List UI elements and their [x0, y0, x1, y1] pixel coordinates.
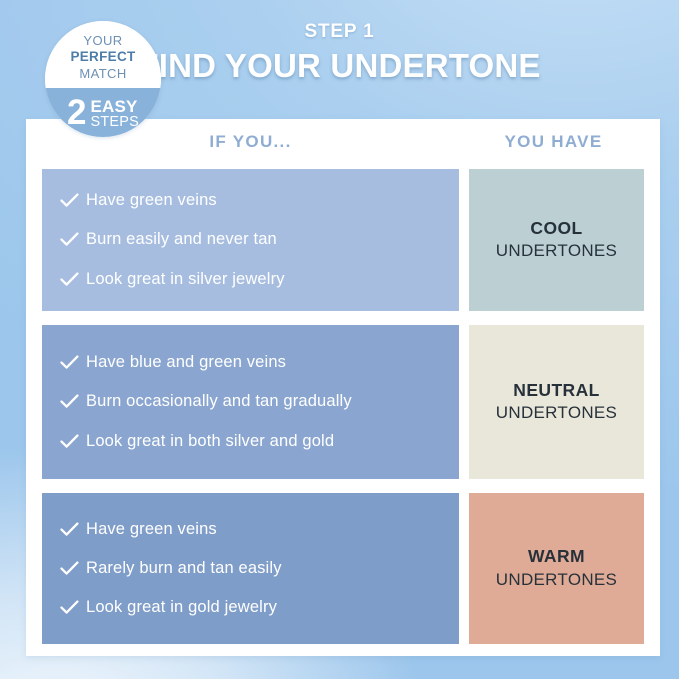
badge-step-count: 2 — [67, 98, 86, 129]
trait-text: Have green veins — [86, 190, 217, 211]
check-icon — [60, 352, 86, 370]
traits-panel: Have blue and green veins Burn occasiona… — [42, 325, 459, 479]
list-item: Rarely burn and tan easily — [60, 558, 443, 579]
undertone-name: NEUTRAL — [513, 379, 599, 403]
undertone-swatch: NEUTRAL UNDERTONES — [469, 325, 644, 479]
your-perfect-match-badge: YOUR PERFECT MATCH 2 EASY STEPS — [45, 21, 161, 137]
check-icon — [60, 558, 86, 576]
badge-bottom-section: 2 EASY STEPS — [45, 88, 161, 137]
check-icon — [60, 269, 86, 287]
undertone-name: WARM — [528, 545, 585, 569]
column-header-you-have: YOU HAVE — [463, 132, 644, 152]
undertone-sublabel: UNDERTONES — [496, 240, 617, 263]
check-icon — [60, 229, 86, 247]
table-row: Have green veins Burn easily and never t… — [42, 169, 644, 311]
badge-top-section: YOUR PERFECT MATCH — [45, 21, 161, 88]
check-icon — [60, 190, 86, 208]
trait-text: Have blue and green veins — [86, 352, 286, 373]
check-icon — [60, 519, 86, 537]
undertone-sublabel: UNDERTONES — [496, 402, 617, 425]
list-item: Look great in silver jewelry — [60, 269, 443, 290]
list-item: Look great in both silver and gold — [60, 431, 443, 452]
list-item: Have green veins — [60, 519, 443, 540]
undertone-infographic: STEP 1 FIND YOUR UNDERTONE YOUR PERFECT … — [0, 0, 679, 679]
traits-panel: Have green veins Rarely burn and tan eas… — [42, 493, 459, 644]
list-item: Burn easily and never tan — [60, 229, 443, 250]
table-row: Have blue and green veins Burn occasiona… — [42, 325, 644, 479]
check-icon — [60, 431, 86, 449]
column-headers: IF YOU... YOU HAVE — [26, 132, 660, 166]
undertone-sublabel: UNDERTONES — [496, 569, 617, 592]
badge-steps-word: STEPS — [90, 115, 139, 130]
traits-panel: Have green veins Burn easily and never t… — [42, 169, 459, 311]
undertone-swatch: COOL UNDERTONES — [469, 169, 644, 311]
badge-steps-label: EASY STEPS — [90, 98, 139, 130]
trait-text: Burn easily and never tan — [86, 229, 277, 250]
undertone-rows: Have green veins Burn easily and never t… — [42, 169, 644, 644]
list-item: Look great in gold jewelry — [60, 597, 443, 618]
comparison-card: IF YOU... YOU HAVE Have green veins — [26, 119, 660, 656]
check-icon — [60, 391, 86, 409]
trait-text: Look great in gold jewelry — [86, 597, 277, 618]
trait-text: Look great in both silver and gold — [86, 431, 334, 452]
trait-text: Burn occasionally and tan gradually — [86, 391, 352, 412]
list-item: Burn occasionally and tan gradually — [60, 391, 443, 412]
trait-text: Look great in silver jewelry — [86, 269, 285, 290]
trait-text: Rarely burn and tan easily — [86, 558, 282, 579]
table-row: Have green veins Rarely burn and tan eas… — [42, 493, 644, 644]
check-icon — [60, 597, 86, 615]
list-item: Have green veins — [60, 190, 443, 211]
badge-line-match: MATCH — [45, 66, 161, 82]
badge-line-your: YOUR — [45, 33, 161, 49]
badge-line-perfect: PERFECT — [45, 49, 161, 66]
undertone-swatch: WARM UNDERTONES — [469, 493, 644, 644]
badge-easy-label: EASY — [90, 98, 139, 115]
trait-text: Have green veins — [86, 519, 217, 540]
undertone-name: COOL — [530, 217, 582, 241]
list-item: Have blue and green veins — [60, 352, 443, 373]
